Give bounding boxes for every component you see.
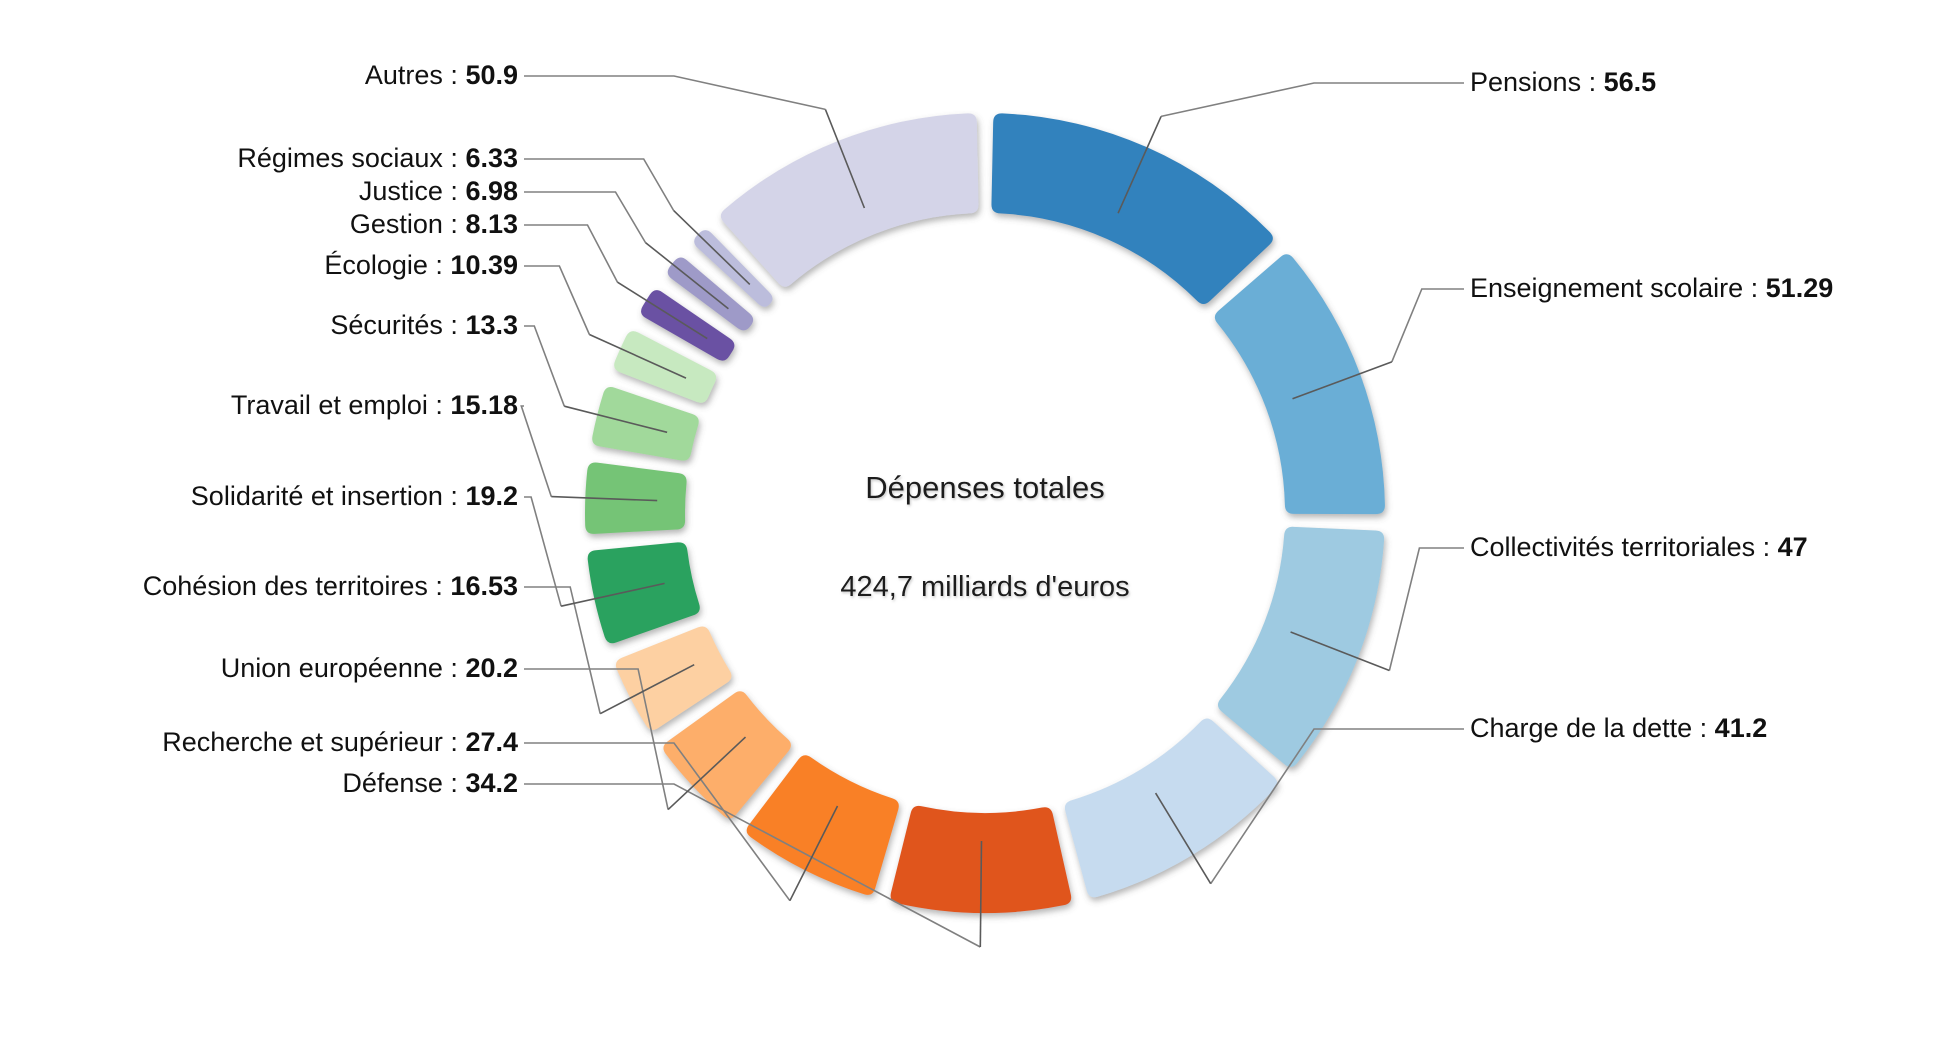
- leader-line: [524, 266, 589, 335]
- donut-segment[interactable]: [1218, 527, 1384, 767]
- slice-label-name: Gestion :: [350, 209, 466, 239]
- leader-line: [524, 159, 674, 211]
- slice-label: Autres : 50.9: [0, 62, 518, 89]
- slice-label-name: Régimes sociaux :: [237, 143, 465, 173]
- slice-label-name: Enseignement scolaire :: [1470, 273, 1766, 303]
- slice-label-name: Union européenne :: [221, 653, 466, 683]
- slice-label-name: Écologie :: [324, 250, 450, 280]
- slice-label-name: Sécurités :: [330, 310, 465, 340]
- slice-label-name: Recherche et supérieur :: [162, 727, 465, 757]
- slice-label-value: 16.53: [450, 571, 518, 601]
- slice-label: Travail et emploi : 15.18: [0, 392, 518, 419]
- slice-label-value: 47: [1778, 532, 1808, 562]
- slice-label: Recherche et supérieur : 27.4: [0, 729, 518, 756]
- slice-label: Justice : 6.98: [0, 178, 518, 205]
- donut-segment[interactable]: [592, 387, 698, 461]
- slice-label: Collectivités territoriales : 47: [1470, 534, 1808, 561]
- leader-line: [1161, 83, 1464, 116]
- donut-segment[interactable]: [991, 113, 1272, 304]
- slice-label-value: 8.13: [465, 209, 518, 239]
- slice-label-value: 51.29: [1766, 273, 1834, 303]
- slice-label-value: 34.2: [465, 768, 518, 798]
- slice-label-name: Pensions :: [1470, 67, 1604, 97]
- slice-label-name: Solidarité et insertion :: [191, 481, 466, 511]
- slice-label-name: Cohésion des territoires :: [143, 571, 451, 601]
- slice-label-name: Charge de la dette :: [1470, 713, 1715, 743]
- leader-line: [524, 76, 825, 109]
- slice-label: Régimes sociaux : 6.33: [0, 145, 518, 172]
- slice-label-name: Justice :: [359, 176, 466, 206]
- chart-canvas: Dépenses totales 424,7 milliards d'euros…: [0, 0, 1934, 1048]
- center-title: Dépenses totales: [865, 470, 1105, 505]
- slice-label-value: 50.9: [465, 60, 518, 90]
- slice-label-value: 6.33: [465, 143, 518, 173]
- leader-line: [521, 406, 551, 497]
- slice-label: Enseignement scolaire : 51.29: [1470, 275, 1833, 302]
- slice-label: Pensions : 56.5: [1470, 69, 1656, 96]
- slice-label-value: 19.2: [465, 481, 518, 511]
- center-total-value: 424,7 milliards d'euros: [840, 571, 1129, 603]
- slice-label-name: Travail et emploi :: [231, 390, 451, 420]
- leader-line: [524, 225, 618, 282]
- slice-label-value: 56.5: [1604, 67, 1657, 97]
- slice-label: Cohésion des territoires : 16.53: [0, 573, 518, 600]
- slice-label-value: 15.18: [450, 390, 518, 420]
- slice-label-value: 41.2: [1715, 713, 1768, 743]
- leader-line: [524, 192, 646, 243]
- slice-label: Union européenne : 20.2: [0, 655, 518, 682]
- slice-label-value: 6.98: [465, 176, 518, 206]
- donut-segment[interactable]: [1065, 718, 1277, 897]
- slice-label: Écologie : 10.39: [0, 252, 518, 279]
- donut-segment[interactable]: [721, 113, 979, 286]
- slice-label-value: 27.4: [465, 727, 518, 757]
- donut-segment[interactable]: [1215, 254, 1385, 514]
- slice-label-value: 13.3: [465, 310, 518, 340]
- slice-label: Charge de la dette : 41.2: [1470, 715, 1767, 742]
- slice-label: Sécurités : 13.3: [0, 312, 518, 339]
- slice-label: Défense : 34.2: [0, 770, 518, 797]
- slice-label-value: 10.39: [450, 250, 518, 280]
- leader-line: [1392, 289, 1464, 362]
- leader-line: [524, 497, 561, 606]
- donut-segment[interactable]: [588, 542, 700, 643]
- leader-line: [524, 326, 564, 406]
- slice-label-name: Autres :: [365, 60, 466, 90]
- slice-label: Solidarité et insertion : 19.2: [0, 483, 518, 510]
- slice-label: Gestion : 8.13: [0, 211, 518, 238]
- donut-segments: [585, 113, 1385, 913]
- slice-label-name: Collectivités territoriales :: [1470, 532, 1778, 562]
- slice-label-value: 20.2: [465, 653, 518, 683]
- leader-line: [1389, 548, 1464, 671]
- slice-label-name: Défense :: [342, 768, 465, 798]
